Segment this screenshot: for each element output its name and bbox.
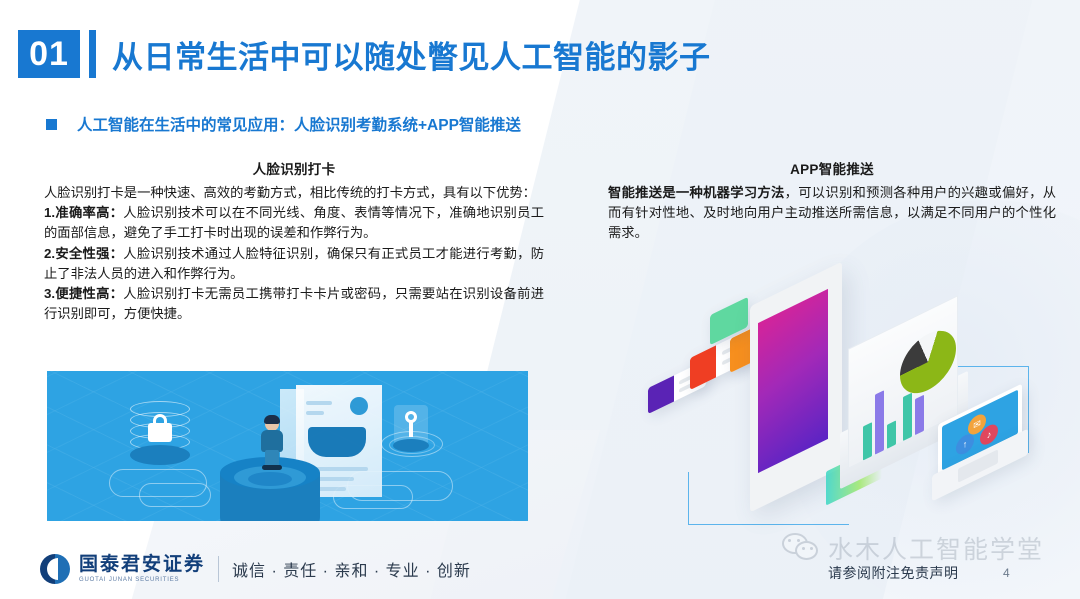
right-column: APP智能推送 智能推送是一种机器学习方法，可以识别和预测各种用户的兴趣或偏好，… (608, 158, 1056, 244)
lock-icon (130, 401, 190, 463)
slide-header: 01 从日常生活中可以随处瞥见人工智能的影子 (18, 30, 711, 78)
left-column-heading: 人脸识别打卡 (44, 158, 544, 178)
page-number: 4 (1003, 566, 1010, 580)
left-column-body: 人脸识别打卡是一种快速、高效的考勤方式，相比传统的打卡方式，具有以下优势： 1.… (44, 183, 544, 324)
left-point-2: 2.安全性强：人脸识别技术通过人脸特征识别，确保只有正式员工才能进行考勤，防止了… (44, 244, 544, 284)
left-point-2-label: 2.安全性强： (44, 246, 123, 261)
key-icon (384, 405, 440, 463)
disclaimer-text: 请参阅附注免责声明 (828, 563, 959, 583)
chart-bar-1 (863, 422, 872, 460)
card-swatch-red (690, 345, 716, 390)
left-intro-paragraph: 人脸识别打卡是一种快速、高效的考勤方式，相比传统的打卡方式，具有以下优势： (44, 183, 544, 203)
right-column-body: 智能推送是一种机器学习方法，可以识别和预测各种用户的兴趣或偏好，从而有针对性地、… (608, 183, 1056, 244)
company-slogan: 诚信 · 责任 · 亲和 · 专业 · 创新 (232, 557, 471, 581)
chart-bar-2 (875, 390, 884, 454)
left-point-3-label: 3.便捷性高： (44, 286, 123, 301)
chart-bar-5 (915, 395, 924, 435)
illustration-person (259, 416, 285, 468)
title-accent-bar (89, 30, 96, 78)
company-name-block: 国泰君安证券 GUOTAI JUNAN SECURITIES (79, 555, 205, 583)
guotai-junan-mark-icon (40, 554, 70, 584)
slide-canvas: 01 从日常生活中可以随处瞥见人工智能的影子 人工智能在生活中的常见应用：人脸识… (0, 0, 1080, 599)
left-column: 人脸识别打卡 人脸识别打卡是一种快速、高效的考勤方式，相比传统的打卡方式，具有以… (44, 158, 544, 324)
chart-bar-4 (903, 393, 912, 441)
illustration-wire-left-2 (139, 483, 211, 507)
left-point-1-label: 1.准确率高： (44, 205, 123, 220)
logo-divider (218, 556, 219, 582)
subtitle-text: 人工智能在生活中的常见应用：人脸识别考勤系统+APP智能推送 (77, 113, 521, 135)
page-title: 从日常生活中可以随处瞥见人工智能的影子 (112, 32, 711, 77)
square-bullet-icon (46, 119, 57, 130)
face-recognition-illustration (47, 371, 528, 521)
company-logo-block: 国泰君安证券 GUOTAI JUNAN SECURITIES 诚信 · 责任 ·… (40, 554, 471, 584)
left-point-1: 1.准确率高：人脸识别技术可以在不同光线、角度、表情等情况下，准确地识别员工的面… (44, 203, 544, 243)
left-point-3: 3.便捷性高：人脸识别打卡无需员工携带打卡卡片或密码，只需要站在识别设备前进行识… (44, 284, 544, 324)
chart-bar-3 (887, 420, 896, 448)
face-scan-shape (308, 427, 366, 457)
face-card-dot-icon (350, 397, 368, 415)
app-push-illustration: ✉ ↑ ♪ (600, 282, 1070, 562)
section-number-badge: 01 (18, 30, 80, 78)
card-swatch-purple (648, 375, 674, 414)
company-name-en: GUOTAI JUNAN SECURITIES (79, 577, 205, 583)
lock-shackle (153, 414, 167, 427)
right-lead-label: 智能推送是一种机器学习方法 (608, 185, 785, 200)
upload-app-icon: ↑ (956, 431, 974, 458)
right-paragraph: 智能推送是一种机器学习方法，可以识别和预测各种用户的兴趣或偏好，从而有针对性地、… (608, 183, 1056, 244)
subtitle-row: 人工智能在生活中的常见应用：人脸识别考勤系统+APP智能推送 (46, 113, 521, 135)
lock-base (130, 445, 190, 465)
company-name-cn: 国泰君安证券 (79, 555, 205, 574)
right-column-heading: APP智能推送 (608, 158, 1056, 178)
